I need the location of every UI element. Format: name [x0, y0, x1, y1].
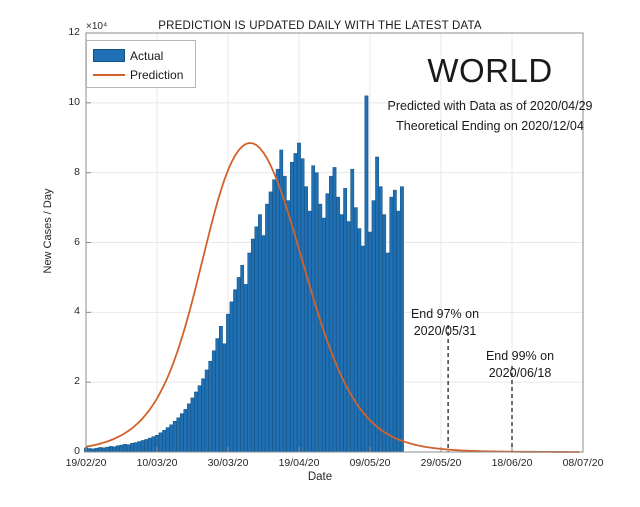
bar [241, 265, 244, 452]
country-name: WORLD [390, 52, 590, 90]
bar [301, 159, 304, 452]
end-97-line2: 2020/05/31 [375, 323, 515, 340]
legend-bar-swatch-icon [93, 49, 125, 62]
bar [290, 162, 293, 452]
bar [177, 418, 180, 452]
bar [184, 409, 187, 452]
bar [248, 253, 251, 452]
bar [194, 392, 197, 452]
chart-legend[interactable]: Actual Prediction [86, 40, 196, 88]
bar [336, 197, 339, 452]
bar [226, 314, 229, 452]
y-tick-label-4: 8 [54, 166, 80, 178]
x-tick-label-3: 19/04/20 [264, 457, 334, 469]
actual-bars-group [84, 96, 403, 452]
bar [361, 246, 364, 452]
bar [170, 425, 173, 452]
bar [344, 188, 347, 452]
legend-label-actual: Actual [130, 49, 163, 63]
bar [88, 449, 91, 452]
bar [230, 302, 233, 452]
bar [233, 290, 236, 452]
chart-figure: PREDICTION IS UPDATED DAILY WITH THE LAT… [0, 0, 640, 507]
bar [205, 370, 208, 452]
bar [99, 447, 102, 452]
bar [354, 208, 357, 452]
y-tick-label-6: 12 [54, 26, 80, 38]
bar [95, 448, 98, 452]
bar [152, 437, 155, 452]
bar [273, 180, 276, 452]
bar [223, 344, 226, 452]
bar [166, 428, 169, 452]
bar [106, 447, 109, 452]
bar [269, 192, 272, 452]
bar [109, 446, 112, 452]
x-tick-label-4: 09/05/20 [335, 457, 405, 469]
bar [297, 143, 300, 452]
bar [219, 326, 222, 452]
bar [145, 439, 148, 452]
bar [173, 421, 176, 452]
end-99-line1: End 99% on [450, 348, 590, 365]
bar [209, 361, 212, 452]
bar [138, 442, 141, 452]
bar [237, 277, 240, 452]
y-tick-label-5: 10 [54, 96, 80, 108]
bar [212, 351, 215, 452]
bar [180, 414, 183, 452]
bar [294, 153, 297, 452]
bar [351, 169, 354, 452]
bar [162, 430, 165, 452]
bar [255, 227, 258, 452]
bar [276, 169, 279, 452]
bar [202, 379, 205, 452]
bar [244, 284, 247, 452]
bar [265, 204, 268, 452]
bar [102, 448, 105, 452]
x-tick-label-0: 19/02/20 [51, 457, 121, 469]
y-tick-label-2: 4 [54, 305, 80, 317]
end-99-line2: 2020/06/18 [450, 365, 590, 382]
bar [312, 166, 315, 452]
bar [386, 253, 389, 452]
theoretical-ending-text: Theoretical Ending on 2020/12/04 [360, 119, 620, 133]
legend-entry-prediction[interactable]: Prediction [93, 65, 189, 84]
bar [283, 176, 286, 452]
bar [113, 447, 116, 452]
y-tick-label-3: 6 [54, 236, 80, 248]
bar [304, 187, 307, 452]
bar [258, 215, 261, 452]
bar [333, 167, 336, 452]
bar [375, 157, 378, 452]
bar [262, 236, 265, 452]
bar [131, 443, 134, 452]
bar [141, 440, 144, 452]
x-tick-label-5: 29/05/20 [406, 457, 476, 469]
legend-entry-actual[interactable]: Actual [93, 46, 189, 65]
end-97-line1: End 97% on [375, 306, 515, 323]
bar [191, 398, 194, 452]
end-99-annotation: End 99% on 2020/06/18 [450, 348, 590, 382]
bar [287, 201, 290, 452]
bar [148, 438, 151, 452]
bar [347, 222, 350, 452]
bar [329, 176, 332, 452]
x-tick-label-6: 18/06/20 [477, 457, 547, 469]
bar [159, 433, 162, 452]
legend-label-prediction: Prediction [130, 68, 183, 82]
x-tick-label-7: 08/07/20 [548, 457, 618, 469]
bar [216, 339, 219, 452]
y-tick-label-0: 0 [54, 445, 80, 457]
x-tick-label-2: 30/03/20 [193, 457, 263, 469]
legend-line-swatch-icon [93, 74, 125, 76]
bar [251, 239, 254, 452]
bar [116, 446, 119, 452]
bar [326, 194, 329, 452]
bar [358, 229, 361, 452]
bar [120, 445, 123, 452]
bar [365, 96, 368, 452]
bar [187, 404, 190, 452]
x-tick-label-1: 10/03/20 [122, 457, 192, 469]
bar [134, 443, 137, 452]
predicted-as-of-text: Predicted with Data as of 2020/04/29 [360, 99, 620, 113]
annotation-markers-group [448, 325, 512, 452]
end-97-annotation: End 97% on 2020/05/31 [375, 306, 515, 340]
y-tick-label-1: 2 [54, 375, 80, 387]
bar [319, 204, 322, 452]
bar [308, 211, 311, 452]
bar [340, 215, 343, 452]
bar [123, 444, 126, 452]
bar [198, 386, 201, 452]
bar [127, 445, 130, 452]
